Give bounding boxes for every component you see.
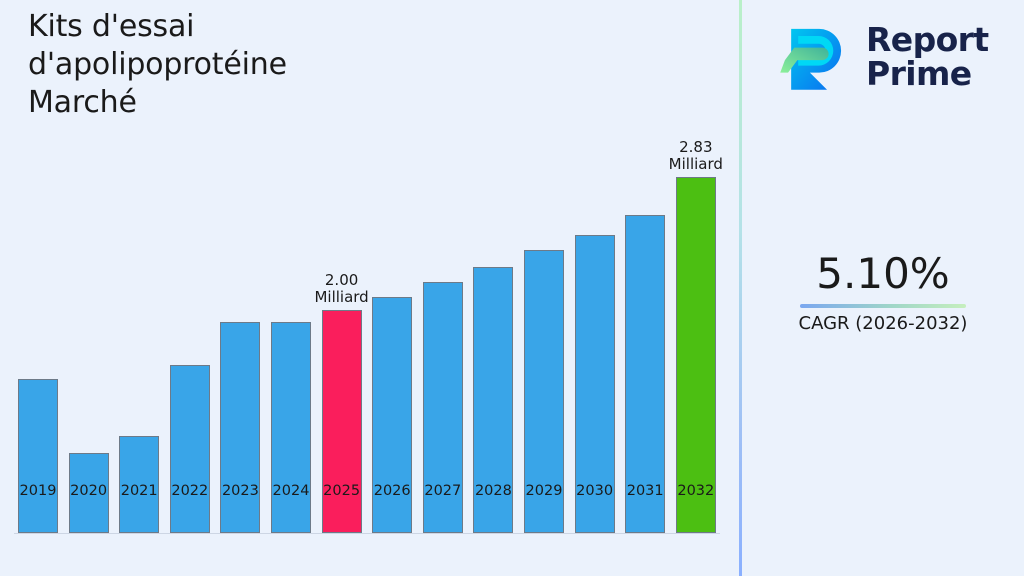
x-axis-line xyxy=(14,533,720,534)
x-tick-2022: 2022 xyxy=(170,483,210,499)
x-tick-2031: 2031 xyxy=(625,483,665,499)
bar-2019[interactable] xyxy=(18,379,58,533)
bar-2032[interactable] xyxy=(676,177,716,533)
cagr-divider xyxy=(800,304,966,308)
x-tick-2027: 2027 xyxy=(423,483,463,499)
bar-2025[interactable] xyxy=(322,310,362,533)
x-tick-2023: 2023 xyxy=(220,483,260,499)
bar-value-label-2032: 2.83 Milliard xyxy=(650,139,742,173)
x-tick-2020: 2020 xyxy=(69,483,109,499)
x-tick-2029: 2029 xyxy=(524,483,564,499)
report-prime-logo-icon xyxy=(774,18,852,96)
cagr-block: 5.10% CAGR (2026-2032) xyxy=(742,250,1024,336)
x-tick-2030: 2030 xyxy=(575,483,615,499)
bar-2023[interactable] xyxy=(220,322,260,533)
x-tick-2025: 2025 xyxy=(322,483,362,499)
bar-2022[interactable] xyxy=(170,365,210,533)
x-tick-2024: 2024 xyxy=(271,483,311,499)
x-tick-2021: 2021 xyxy=(119,483,159,499)
cagr-label: CAGR (2026-2032) xyxy=(742,312,1024,336)
chart-panel: Kits d'essai d'apolipoprotéine Marché 20… xyxy=(0,0,739,576)
bar-chart-plot: 2019202020212022202320242.00 Milliard202… xyxy=(0,0,739,576)
info-panel: Report Prime 5.10% CAGR (2026-2032) xyxy=(742,0,1024,576)
bar-2024[interactable] xyxy=(271,322,311,533)
cagr-value: 5.10% xyxy=(742,250,1024,298)
screenshot-root: Kits d'essai d'apolipoprotéine Marché 20… xyxy=(0,0,1024,576)
x-tick-2032: 2032 xyxy=(676,483,716,499)
brand-logo: Report Prime xyxy=(774,14,1024,100)
x-tick-2019: 2019 xyxy=(18,483,58,499)
x-tick-2028: 2028 xyxy=(473,483,513,499)
x-tick-2026: 2026 xyxy=(372,483,412,499)
brand-wordmark: Report Prime xyxy=(866,23,989,91)
